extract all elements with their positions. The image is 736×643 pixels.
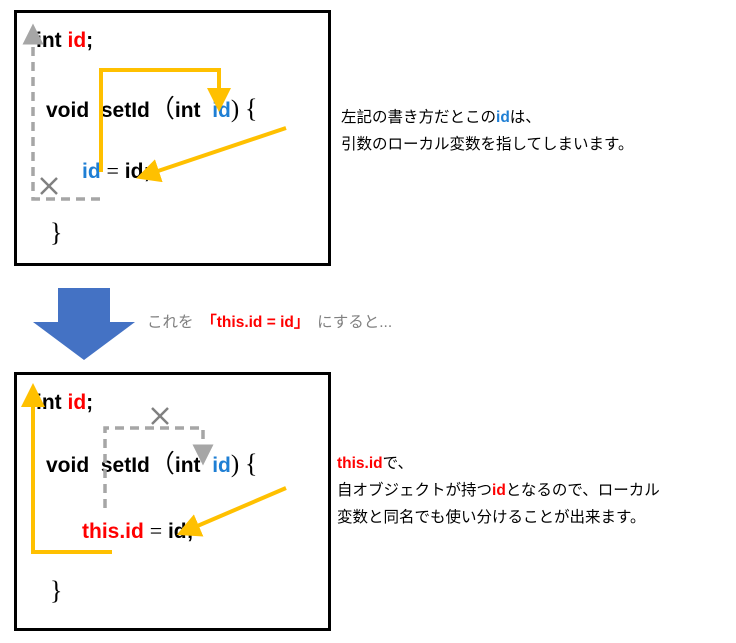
before-param-name: id (212, 99, 231, 122)
before-field-declaration: int id; (36, 30, 93, 51)
before-close-paren: ) (231, 96, 239, 123)
before-method-name: setId (101, 99, 150, 122)
before-param-type: int (175, 99, 201, 122)
after-method-signature: void setId（int id) { (46, 453, 258, 476)
before-close-brace: } (50, 222, 62, 243)
before-open-brace: { (245, 94, 257, 123)
after-field-semicolon: ; (86, 391, 93, 414)
before-field-type: int (36, 29, 62, 52)
after-return-type: void (46, 454, 89, 477)
after-close-brace: } (50, 580, 62, 601)
note-after-line2-highlight: id (492, 482, 506, 499)
after-method-name: setId (101, 454, 150, 477)
before-field-semicolon: ; (86, 29, 93, 52)
after-param-type: int (175, 454, 201, 477)
note-after-line3: 変数と同名でも使い分けることが出来ます。 (337, 509, 645, 526)
after-field-name: id (68, 391, 87, 414)
after-assignment-statement: this.id = id; (82, 520, 194, 542)
after-close-paren: ) (231, 451, 239, 478)
note-before-line1-a: 左記の書き方だとこの (341, 109, 496, 126)
after-field-declaration: int id; (36, 392, 93, 413)
note-before-line2: 引数のローカル変数を指してしまいます。 (341, 136, 634, 153)
before-open-paren: （ (150, 96, 175, 123)
caption-code: 「this.id = id」 (209, 314, 302, 331)
caption-prefix: これを (147, 314, 209, 331)
note-after-line2-a: 自オブジェクトが持つ (337, 482, 492, 499)
note-after-line2-b: となるので、ローカル (506, 482, 660, 499)
after-assign-right: id; (168, 520, 194, 543)
after-open-paren: （ (150, 451, 175, 478)
note-after: this.idで、自オブジェクトが持つidとなるので、ローカル変数と同名でも使い… (337, 450, 660, 531)
before-assign-operator: = (107, 158, 119, 183)
before-method-signature: void setId（int id) { (46, 98, 258, 121)
note-before: 左記の書き方だとこのidは、引数のローカル変数を指してしまいます。 (341, 104, 634, 158)
before-assign-left: id (82, 160, 101, 183)
diagram-canvas: int id; void setId（int id) { id = id; } … (0, 0, 736, 643)
before-field-name: id (68, 29, 87, 52)
before-assign-right: id; (125, 160, 151, 183)
after-assign-left: this.id (82, 520, 144, 543)
transition-caption: これを 「this.id = id」 にすると... (147, 310, 392, 332)
note-after-line1-b: で、 (383, 455, 413, 472)
caption-suffix: にすると... (302, 314, 393, 331)
after-open-brace: { (245, 449, 257, 478)
after-param-name: id (212, 454, 231, 477)
after-assign-operator: = (150, 518, 162, 543)
transition-down-arrow-icon (33, 288, 135, 360)
before-assignment-statement: id = id; (82, 160, 150, 182)
after-field-type: int (36, 391, 62, 414)
note-before-line1-highlight: id (496, 109, 510, 126)
before-return-type: void (46, 99, 89, 122)
note-after-line1-highlight: this.id (337, 455, 383, 472)
note-before-line1-b: は、 (510, 109, 541, 126)
